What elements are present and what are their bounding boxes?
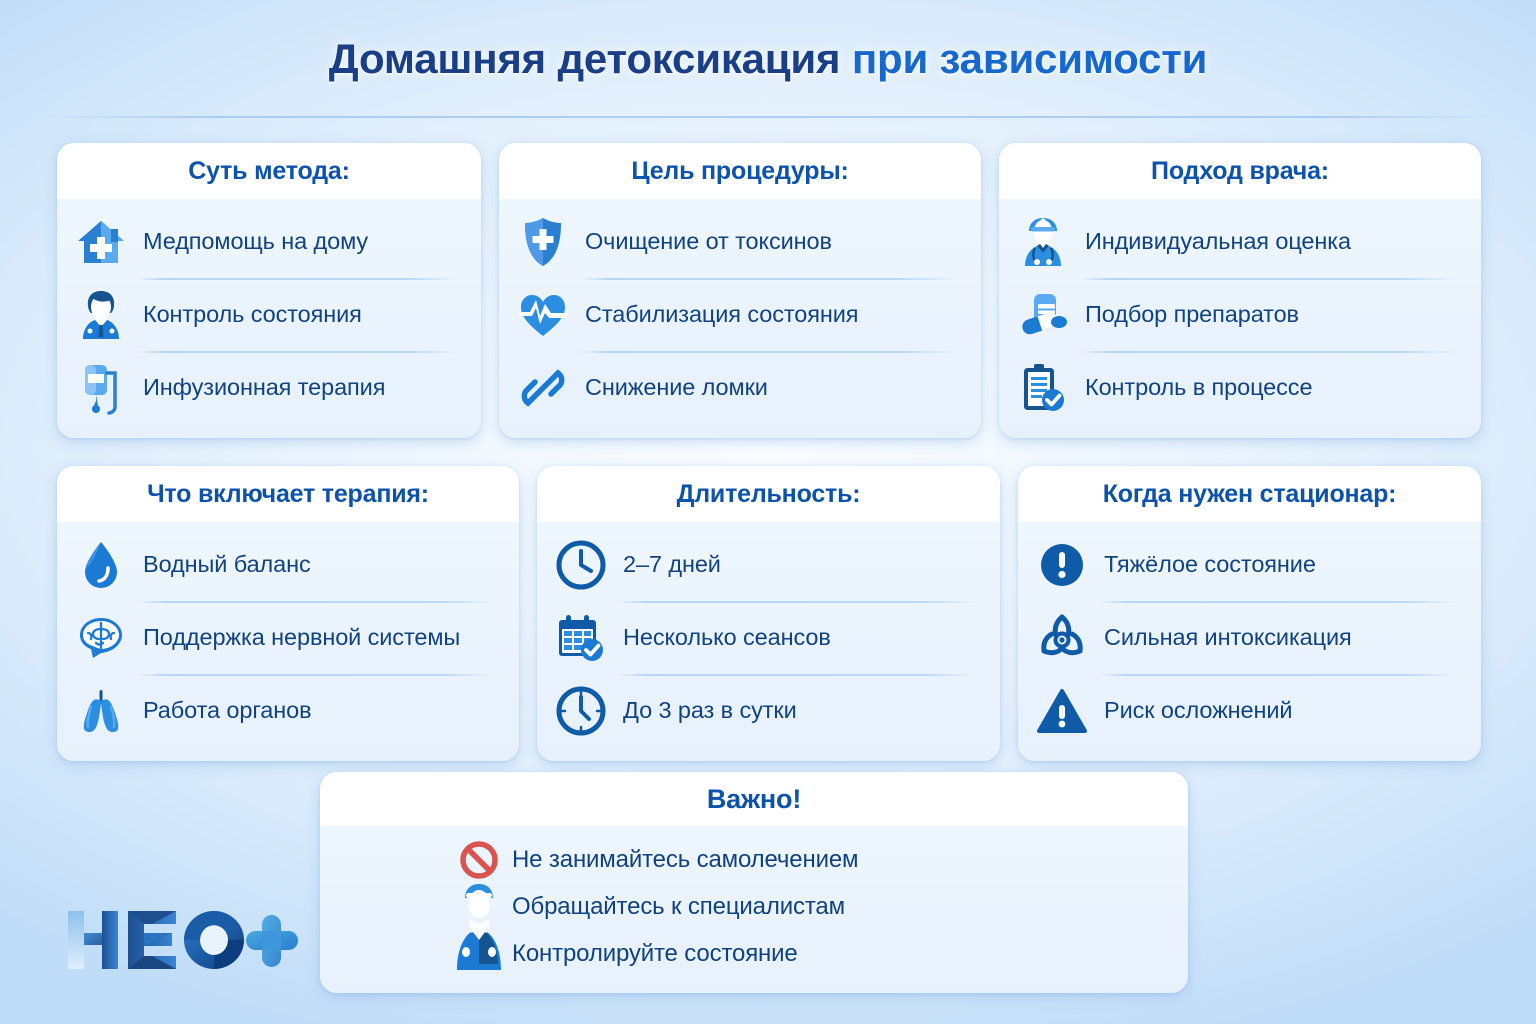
- list-item[interactable]: Водный баланс: [75, 528, 499, 601]
- card-header: Длительность:: [537, 466, 1000, 522]
- list-item-label: Медпомощь на дому: [143, 228, 368, 255]
- water-drop-icon: [75, 537, 127, 593]
- calendar-check-icon: [555, 610, 607, 666]
- list-item[interactable]: Медпомощь на дому: [75, 205, 461, 278]
- card-chto-vklyuchaet-terapiya[interactable]: Что включает терапия: Водный баланс: [57, 466, 519, 761]
- neo-plus-logo: [62, 895, 302, 979]
- page-title-strong: Домашняя детоксикация: [329, 35, 841, 82]
- list-item-label: Стабилизация состояния: [585, 301, 858, 328]
- list-item-label: Подбор препаратов: [1085, 301, 1299, 328]
- list-item[interactable]: Инфузионная терапия: [75, 351, 461, 424]
- header-divider: [40, 116, 1496, 118]
- list-item[interactable]: До 3 раз в сутки: [555, 674, 980, 747]
- shield-cross-icon: [517, 214, 569, 270]
- list-item[interactable]: Несколько сеансов: [555, 601, 980, 674]
- list-item-label: Обращайтесь к специалистам: [512, 893, 845, 921]
- list-item-label: Контроль состояния: [143, 301, 362, 328]
- card-title: Важно!: [330, 784, 1178, 815]
- card-body: Очищение от токсинов Стабилизация состоя…: [499, 199, 981, 438]
- clock-icon: [555, 683, 607, 739]
- card-header: Когда нужен стационар:: [1018, 466, 1481, 522]
- card-body: Индивидуальная оценка Подбор: [999, 199, 1481, 438]
- list-item-label: Риск осложнений: [1104, 697, 1292, 724]
- list-item-label: Контролируйте состояние: [512, 940, 798, 968]
- list-item[interactable]: Снижение ломки: [517, 351, 961, 424]
- card-body: Тяжёлое состояние: [1018, 522, 1481, 761]
- list-item-label: Работа органов: [143, 697, 311, 724]
- list-item[interactable]: Тяжёлое состояние: [1036, 528, 1461, 601]
- list-item[interactable]: Не занимайтесь самолечением: [512, 836, 1054, 883]
- brain-icon: [75, 610, 127, 666]
- list-item-label: До 3 раз в сутки: [623, 697, 797, 724]
- card-title: Цель процедуры:: [509, 157, 971, 186]
- list-item[interactable]: Индивидуальная оценка: [1017, 205, 1461, 278]
- chain-link-icon: [517, 360, 569, 416]
- list-item-label: Водный баланс: [143, 551, 311, 578]
- list-item[interactable]: Подбор препаратов: [1017, 278, 1461, 351]
- list-item-label: Не занимайтесь самолечением: [512, 846, 858, 874]
- heart-pulse-icon: [517, 287, 569, 343]
- card-body: Водный баланс: [57, 522, 519, 761]
- pills-capsule-icon: [1017, 287, 1069, 343]
- card-header: Важно!: [320, 772, 1188, 826]
- card-header: Подход врача:: [999, 143, 1481, 199]
- card-title: Что включает терапия:: [67, 480, 509, 509]
- lungs-icon: [75, 683, 127, 739]
- home-medical-icon: [75, 214, 127, 270]
- list-item[interactable]: Контроль состояния: [75, 278, 461, 351]
- page-header: Домашняя детоксикация при зависимости: [0, 0, 1536, 118]
- important-list: Не занимайтесь самолечением Обращайтесь …: [454, 836, 1054, 977]
- exclamation-circle-icon: [1036, 537, 1088, 593]
- doctor-avatar-icon: [75, 287, 127, 343]
- list-item[interactable]: Контролируйте состояние: [512, 930, 1054, 977]
- list-item-label: 2–7 дней: [623, 551, 721, 578]
- card-title: Когда нужен стационар:: [1028, 480, 1471, 509]
- card-dlitelnost[interactable]: Длительность: 2–7 дней: [537, 466, 1000, 761]
- list-item[interactable]: Работа органов: [75, 674, 499, 747]
- card-body: Медпомощь на дому Контроль состоя: [57, 199, 481, 438]
- biohazard-icon: [1036, 610, 1088, 666]
- list-item[interactable]: Сильная интоксикация: [1036, 601, 1461, 674]
- no-entry-icon: [454, 836, 504, 883]
- list-item[interactable]: Очищение от токсинов: [517, 205, 961, 278]
- cards-row-1: Суть метода: Медпомощь на дому: [57, 143, 1481, 438]
- list-item-label: Снижение ломки: [585, 374, 768, 401]
- warning-triangle-icon: [1036, 683, 1088, 739]
- card-title: Длительность:: [547, 480, 990, 509]
- list-item[interactable]: Обращайтесь к специалистам: [512, 883, 1054, 930]
- list-item-label: Сильная интоксикация: [1104, 624, 1352, 651]
- card-podhod-vracha[interactable]: Подход врача:: [999, 143, 1481, 438]
- card-header: Цель процедуры:: [499, 143, 981, 199]
- page-title-light: при зависимости: [840, 35, 1207, 82]
- list-item[interactable]: Поддержка нервной системы: [75, 601, 499, 674]
- clock-icon: [555, 537, 607, 593]
- list-item-label: Индивидуальная оценка: [1085, 228, 1351, 255]
- list-item-label: Инфузионная терапия: [143, 374, 385, 401]
- list-item[interactable]: 2–7 дней: [555, 528, 980, 601]
- list-item[interactable]: Контроль в процессе: [1017, 351, 1461, 424]
- list-item-label: Контроль в процессе: [1085, 374, 1312, 401]
- card-body: 2–7 дней: [537, 522, 1000, 761]
- card-header: Суть метода:: [57, 143, 481, 199]
- doctor-figure-icon: [452, 880, 506, 974]
- card-body: Не занимайтесь самолечением Обращайтесь …: [320, 826, 1188, 993]
- list-item[interactable]: Риск осложнений: [1036, 674, 1461, 747]
- list-item-label: Поддержка нервной системы: [143, 624, 460, 651]
- cards-row-2: Что включает терапия: Водный баланс: [57, 466, 1481, 761]
- card-title: Подход врача:: [1009, 157, 1471, 186]
- card-kogda-nuzhen-stacionar[interactable]: Когда нужен стационар: Тяжёлое состояние: [1018, 466, 1481, 761]
- list-item[interactable]: Стабилизация состояния: [517, 278, 961, 351]
- page-title: Домашняя детоксикация при зависимости: [329, 35, 1207, 83]
- iv-drip-icon: [75, 360, 127, 416]
- list-item-label: Несколько сеансов: [623, 624, 831, 651]
- clipboard-check-icon: [1017, 360, 1069, 416]
- list-item-label: Тяжёлое состояние: [1104, 551, 1316, 578]
- doctor-stethoscope-icon: [1017, 214, 1069, 270]
- list-item-label: Очищение от токсинов: [585, 228, 832, 255]
- card-cel-procedury[interactable]: Цель процедуры: Очищение от токсинов: [499, 143, 981, 438]
- card-title: Суть метода:: [67, 157, 471, 186]
- card-header: Что включает терапия:: [57, 466, 519, 522]
- card-sut-metoda[interactable]: Суть метода: Медпомощь на дому: [57, 143, 481, 438]
- card-vazhno[interactable]: Важно!: [320, 772, 1188, 993]
